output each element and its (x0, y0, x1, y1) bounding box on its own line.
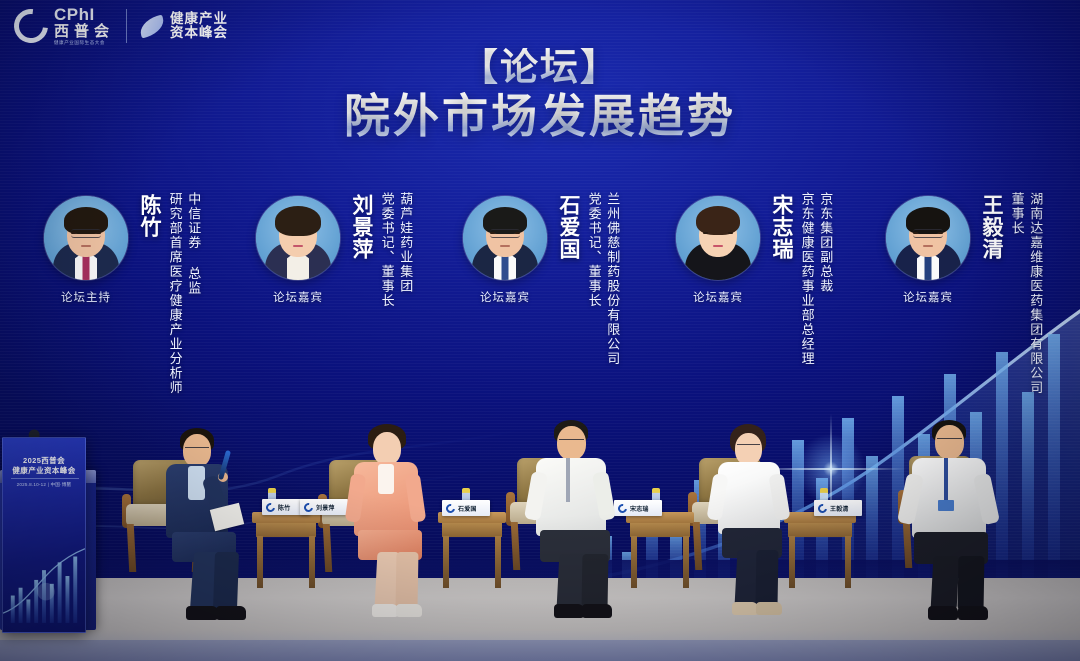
affiliation-line: 京东集团副总裁 (818, 192, 834, 366)
panelist-name: 王毅清 (980, 194, 1002, 260)
nameplate: 石爱国 (442, 500, 490, 516)
conference-stage-photo: CPhI 西普会 健康产业国际生态大会 健康产业 资本峰会 【论坛】 院外市场发… (0, 0, 1080, 661)
rollup-banner: 2025西普会 健康产业资本峰会 2025.8.10-12 | 中国·博鳌 (2, 437, 86, 633)
cphi-ring-icon (302, 501, 315, 514)
affiliation-line: 党委书记、董事长 (586, 192, 602, 366)
lanyard (566, 458, 570, 502)
seated-panelist (148, 428, 258, 628)
affiliation-line: 研究部首席医疗健康产业分析师 (167, 192, 183, 395)
seated-panelist (522, 420, 634, 628)
nameplate-label: 王毅清 (830, 504, 849, 513)
lanyard (944, 458, 948, 504)
panelist-name: 刘景萍 (350, 194, 372, 260)
avatar (44, 196, 128, 280)
seated-panelist (898, 420, 1014, 630)
affiliation-line: 中信证券 总监 (186, 192, 202, 395)
panelist-role: 论坛嘉宾 (668, 289, 768, 305)
affiliation-line: 京东健康医药事业部总经理 (799, 192, 815, 366)
cphi-tagline: 健康产业国际生态大会 (54, 41, 114, 46)
event-logo-bar: CPhI 西普会 健康产业国际生态大会 健康产业 资本峰会 (14, 4, 228, 48)
panelist-affiliation: 兰州佛慈制药股份有限公司 党委书记、董事长 (583, 192, 620, 366)
panelist-card: 论坛嘉宾 石爱国 兰州佛慈制药股份有限公司 党委书记、董事长 (455, 186, 620, 426)
banner-line-2: 健康产业资本峰会 (3, 465, 85, 476)
nameplate: 王毅清 (814, 500, 862, 516)
side-table (626, 512, 694, 590)
panelist-role: 论坛主持 (36, 289, 136, 305)
summit-line-2: 资本峰会 (170, 26, 228, 40)
panelist-role: 论坛嘉宾 (248, 289, 348, 305)
cphi-logo: CPhI 西普会 健康产业国际生态大会 (14, 6, 114, 46)
affiliation-line: 兰州佛慈制药股份有限公司 (605, 192, 621, 366)
avatar (256, 196, 340, 280)
leaf-icon (137, 14, 167, 38)
banner-line-3: 2025.8.10-12 | 中国·博鳌 (3, 482, 85, 488)
panelist-role: 论坛嘉宾 (455, 289, 555, 305)
avatar (676, 196, 760, 280)
side-table (252, 512, 320, 590)
panelist-affiliation: 中信证券 总监 研究部首席医疗健康产业分析师 (164, 192, 201, 395)
side-table (438, 512, 506, 590)
panelist-affiliation: 葫芦娃药业集团 党委书记、董事长 (376, 192, 413, 308)
cphi-ring-icon (264, 501, 277, 514)
seated-panelist (338, 424, 446, 628)
avatar (886, 196, 970, 280)
panelist-card-row: 论坛主持 陈竹 中信证券 总监 研究部首席医疗健康产业分析师 (0, 186, 1080, 426)
health-capital-summit-logo: 健康产业 资本峰会 (139, 12, 228, 41)
nameplate-label: 刘景萍 (316, 503, 335, 512)
cphi-ring-icon (7, 2, 55, 50)
banner-chart-graphic (3, 522, 85, 632)
panelist-affiliation: 湖南达嘉维康医药集团有限公司 董事长 (1006, 192, 1043, 395)
summit-line-1: 健康产业 (170, 12, 228, 26)
panelist-card: 论坛主持 陈竹 中信证券 总监 研究部首席医疗健康产业分析师 (36, 186, 201, 426)
panelist-name: 石爱国 (557, 194, 579, 260)
banner-divider (11, 478, 79, 479)
cphi-ring-icon (444, 502, 457, 515)
panelist-card: 论坛嘉宾 王毅清 湖南达嘉维康医药集团有限公司 董事长 (878, 186, 1043, 426)
badge (938, 500, 954, 511)
cphi-ring-icon (816, 502, 829, 515)
panelist-affiliation: 京东集团副总裁 京东健康医药事业部总经理 (796, 192, 833, 366)
panelist-role: 论坛嘉宾 (878, 289, 978, 305)
logo-divider (126, 9, 127, 43)
affiliation-line: 葫芦娃药业集团 (398, 192, 414, 308)
avatar (463, 196, 547, 280)
cphi-chinese-name: 西普会 (54, 24, 114, 39)
stage-floor-edge (0, 640, 1080, 661)
nameplate-label: 石爱国 (458, 504, 477, 513)
panelist-card: 论坛嘉宾 宋志瑞 京东集团副总裁 京东健康医药事业部总经理 (668, 186, 833, 426)
panelist-name: 宋志瑞 (770, 194, 792, 260)
affiliation-line: 湖南达嘉维康医药集团有限公司 (1028, 192, 1044, 395)
affiliation-line: 董事长 (1009, 192, 1025, 395)
seated-panelist (700, 424, 804, 628)
panelist-name: 陈竹 (138, 194, 160, 238)
cphi-wordmark: CPhI (54, 6, 114, 23)
affiliation-line: 党委书记、董事长 (379, 192, 395, 308)
panelist-card: 论坛嘉宾 刘景萍 葫芦娃药业集团 党委书记、董事长 (248, 186, 413, 426)
nameplate-label: 陈竹 (278, 503, 290, 512)
